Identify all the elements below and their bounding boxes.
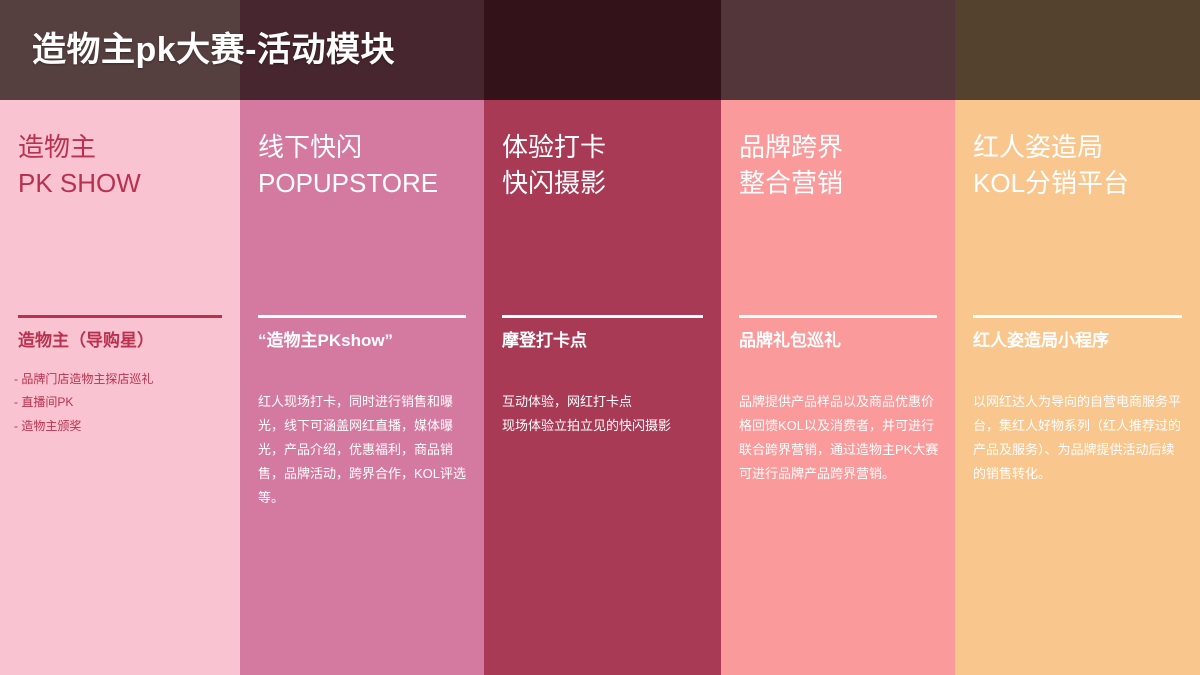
column-subtitle: 摩登打卡点: [502, 328, 711, 354]
page-title: 造物主pk大赛-活动模块: [32, 22, 395, 71]
column-brand-crossover[interactable]: 品牌跨界 整合营销 品牌礼包巡礼 品牌提供产品样品以及商品优惠价格回馈KOL以及…: [721, 100, 955, 675]
column-subtitle: “造物主PKshow”: [258, 328, 474, 354]
header-segment-4: [721, 0, 955, 100]
column-title: 造物主 PK SHOW: [18, 130, 230, 202]
column-subtitle: 红人姿造局小程序: [973, 328, 1190, 354]
column-body-text: 品牌提供产品样品以及商品优惠价格回馈KOL以及消费者，并可进行联合跨界营销，通过…: [739, 390, 939, 486]
column-divider: [18, 315, 222, 318]
column-subtitle: 造物主（导购星）: [18, 328, 230, 354]
column-popupstore[interactable]: 线下快闪 POPUPSTORE “造物主PKshow” 红人现场打卡，同时进行销…: [240, 100, 484, 675]
column-body-text: 互动体验，网红打卡点 现场体验立拍立见的快闪摄影: [502, 390, 705, 438]
column-body-text: 以网红达人为导向的自营电商服务平台，集红人好物系列（红人推荐过的产品及服务）、为…: [973, 390, 1184, 486]
column-body-text: 红人现场打卡，同时进行销售和曝光，线下可涵盖网红直播，媒体曝光，产品介绍，优惠福…: [258, 390, 468, 510]
column-divider: [502, 315, 703, 318]
column-divider: [973, 315, 1182, 318]
header-segment-3: [484, 0, 721, 100]
column-divider: [258, 315, 466, 318]
list-item: - 直播间PK: [14, 391, 226, 414]
column-title: 体验打卡 快闪摄影: [502, 130, 711, 202]
column-title: 红人姿造局 KOL分销平台: [973, 130, 1190, 202]
column-pk-show[interactable]: 造物主 PK SHOW 造物主（导购星） - 品牌门店造物主探店巡礼 - 直播间…: [0, 100, 240, 675]
column-checkin-photo[interactable]: 体验打卡 快闪摄影 摩登打卡点 互动体验，网红打卡点 现场体验立拍立见的快闪摄影: [484, 100, 721, 675]
column-kol-platform[interactable]: 红人姿造局 KOL分销平台 红人姿造局小程序 以网红达人为导向的自营电商服务平台…: [955, 100, 1200, 675]
slide-canvas: 造物主 PK SHOW 造物主（导购星） - 品牌门店造物主探店巡礼 - 直播间…: [0, 0, 1200, 675]
column-bullet-list: - 品牌门店造物主探店巡礼 - 直播间PK - 造物主颁奖: [14, 368, 226, 438]
column-divider: [739, 315, 937, 318]
column-title: 线下快闪 POPUPSTORE: [258, 130, 474, 202]
column-subtitle: 品牌礼包巡礼: [739, 328, 945, 354]
column-title: 品牌跨界 整合营销: [739, 130, 945, 202]
list-item: - 品牌门店造物主探店巡礼: [14, 368, 226, 391]
header-segment-5: [955, 0, 1200, 100]
list-item: - 造物主颁奖: [14, 415, 226, 438]
columns-container: 造物主 PK SHOW 造物主（导购星） - 品牌门店造物主探店巡礼 - 直播间…: [0, 100, 1200, 675]
